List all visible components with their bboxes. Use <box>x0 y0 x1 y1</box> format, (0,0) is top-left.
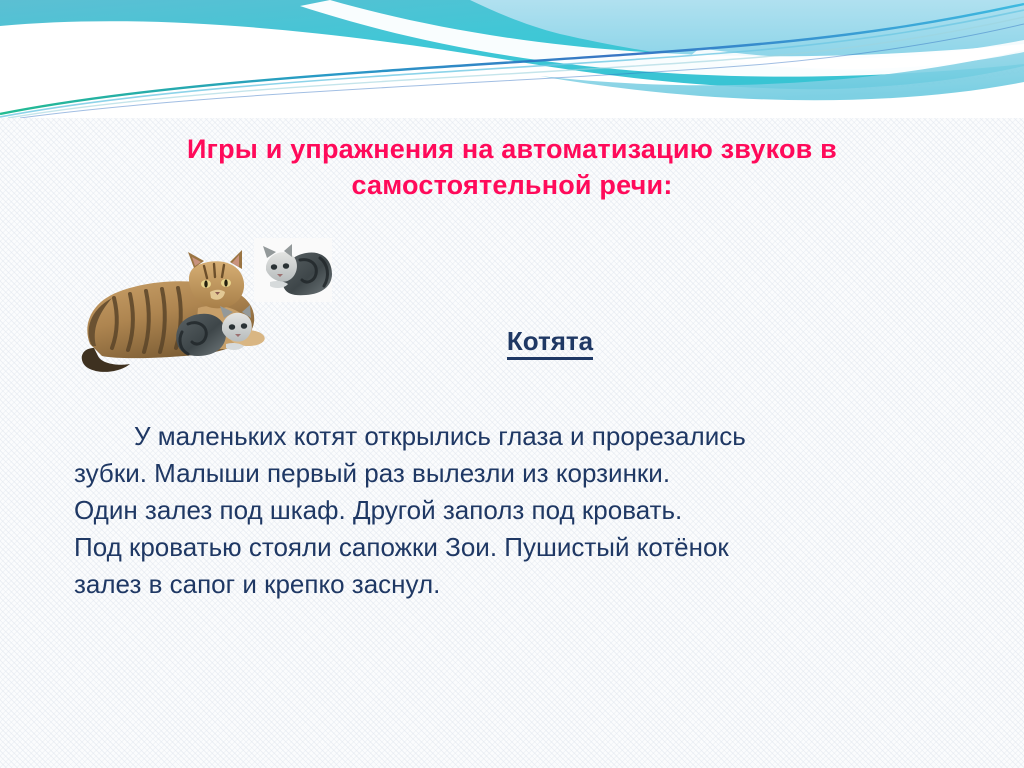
brown-tabby-cat-lying <box>82 250 265 372</box>
slide-title-line-1: Игры и упражнения на автоматизацию звуко… <box>60 132 964 168</box>
grey-tabby-kitten-top-right <box>254 238 332 302</box>
section-subheading-text: Котята <box>507 326 593 360</box>
body-line-5: залез в сапог и крепко заснул. <box>74 566 954 603</box>
section-subheading: Котята <box>340 326 760 357</box>
body-line-1: У маленьких котят открылись глаза и прор… <box>74 418 954 455</box>
slide-title: Игры и упражнения на автоматизацию звуко… <box>60 132 964 203</box>
body-paragraph: У маленьких котят открылись глаза и прор… <box>74 418 954 603</box>
wave-banner <box>0 0 1024 118</box>
body-line-3: Один залез под шкаф. Другой заполз под к… <box>74 492 954 529</box>
presentation-slide: Игры и упражнения на автоматизацию звуко… <box>0 0 1024 768</box>
body-line-4: Под кроватью стояли сапожки Зои. Пушисты… <box>74 529 954 566</box>
slide-title-line-2: самостоятельной речи: <box>60 168 964 204</box>
body-line-2: зубки. Малыши первый раз вылезли из корз… <box>74 455 954 492</box>
cats-photo-group <box>78 236 334 386</box>
